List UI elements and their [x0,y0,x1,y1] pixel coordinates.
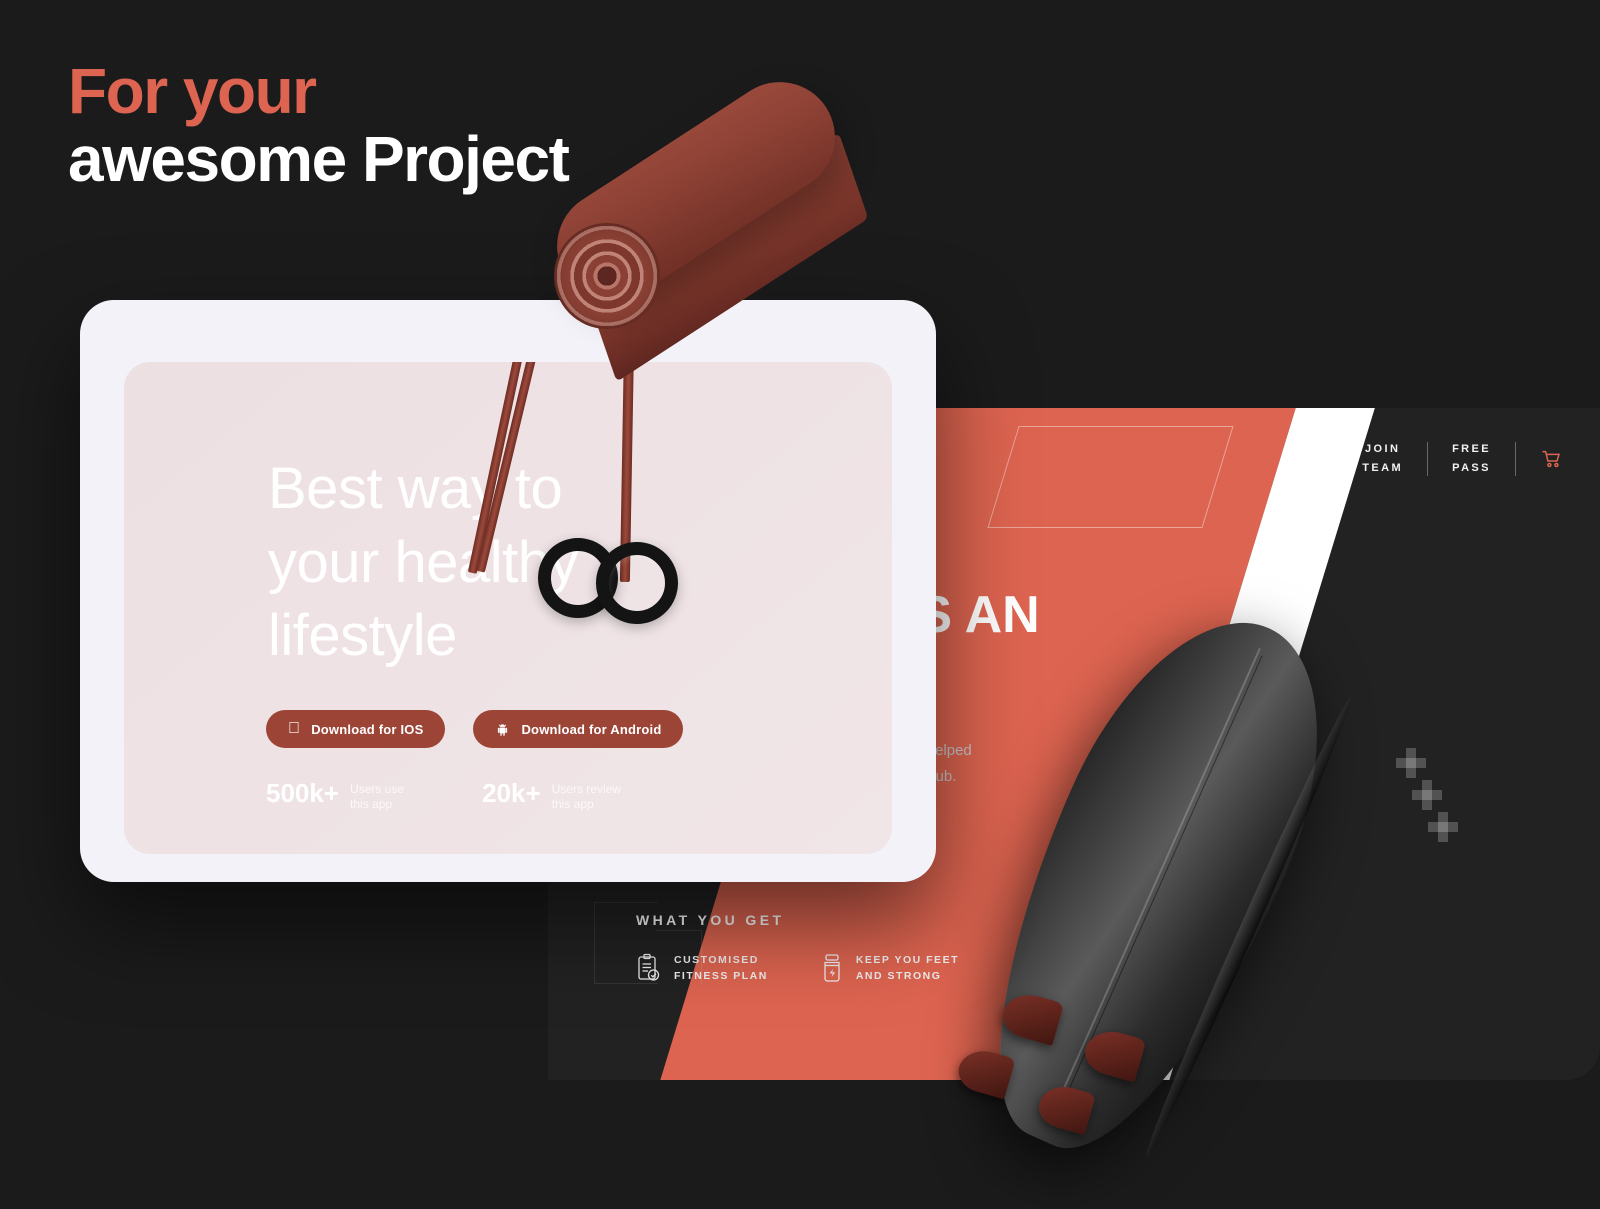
stat-label: Users review this app [552,780,621,812]
nav-free-pass[interactable]: FREE PASS [1428,440,1515,477]
download-android-button[interactable]: Download for Android [473,710,683,748]
ghost-step-decor-2 [656,930,702,984]
plus-marks-decor [1386,748,1466,858]
download-ios-label: Download for IOS [311,722,423,737]
page-title: For your awesome Project [68,58,568,194]
stat-item: 500k+ Users use this app [266,780,404,812]
cart-button[interactable] [1516,450,1562,468]
feature-item: KEEP YOU FEET AND STRONG [820,952,959,985]
plus-icon [1412,780,1442,810]
plus-icon [1396,748,1426,778]
download-buttons:  Download for IOS Download for Android [266,710,683,748]
ghost-step-decor [594,902,658,984]
nav-join-team[interactable]: JOIN TEAM [1338,440,1427,477]
supplement-bottle-icon [820,953,844,983]
stat-number: 20k+ [482,780,541,807]
headline-line-2: awesome Project [68,126,568,194]
download-ios-button[interactable]:  Download for IOS [266,710,445,748]
stat-label: Users use this app [350,780,404,812]
feature-label: KEEP YOU FEET AND STRONG [856,952,959,985]
rolled-yoga-mat [560,195,890,535]
stat-item: 20k+ Users review this app [482,780,621,812]
apple-icon:  [288,721,300,737]
download-android-label: Download for Android [521,722,661,737]
shopping-cart-icon[interactable] [1542,450,1562,468]
gym-ring [596,542,678,624]
site-navigation: JOIN TEAM FREE PASS [1338,440,1562,477]
app-stats: 500k+ Users use this app 20k+ Users revi… [266,780,621,812]
android-icon [495,722,510,737]
headline-line-1: For your [68,58,568,126]
stat-number: 500k+ [266,780,339,807]
plus-icon [1428,812,1458,842]
outline-parallelogram-decor [987,426,1233,528]
